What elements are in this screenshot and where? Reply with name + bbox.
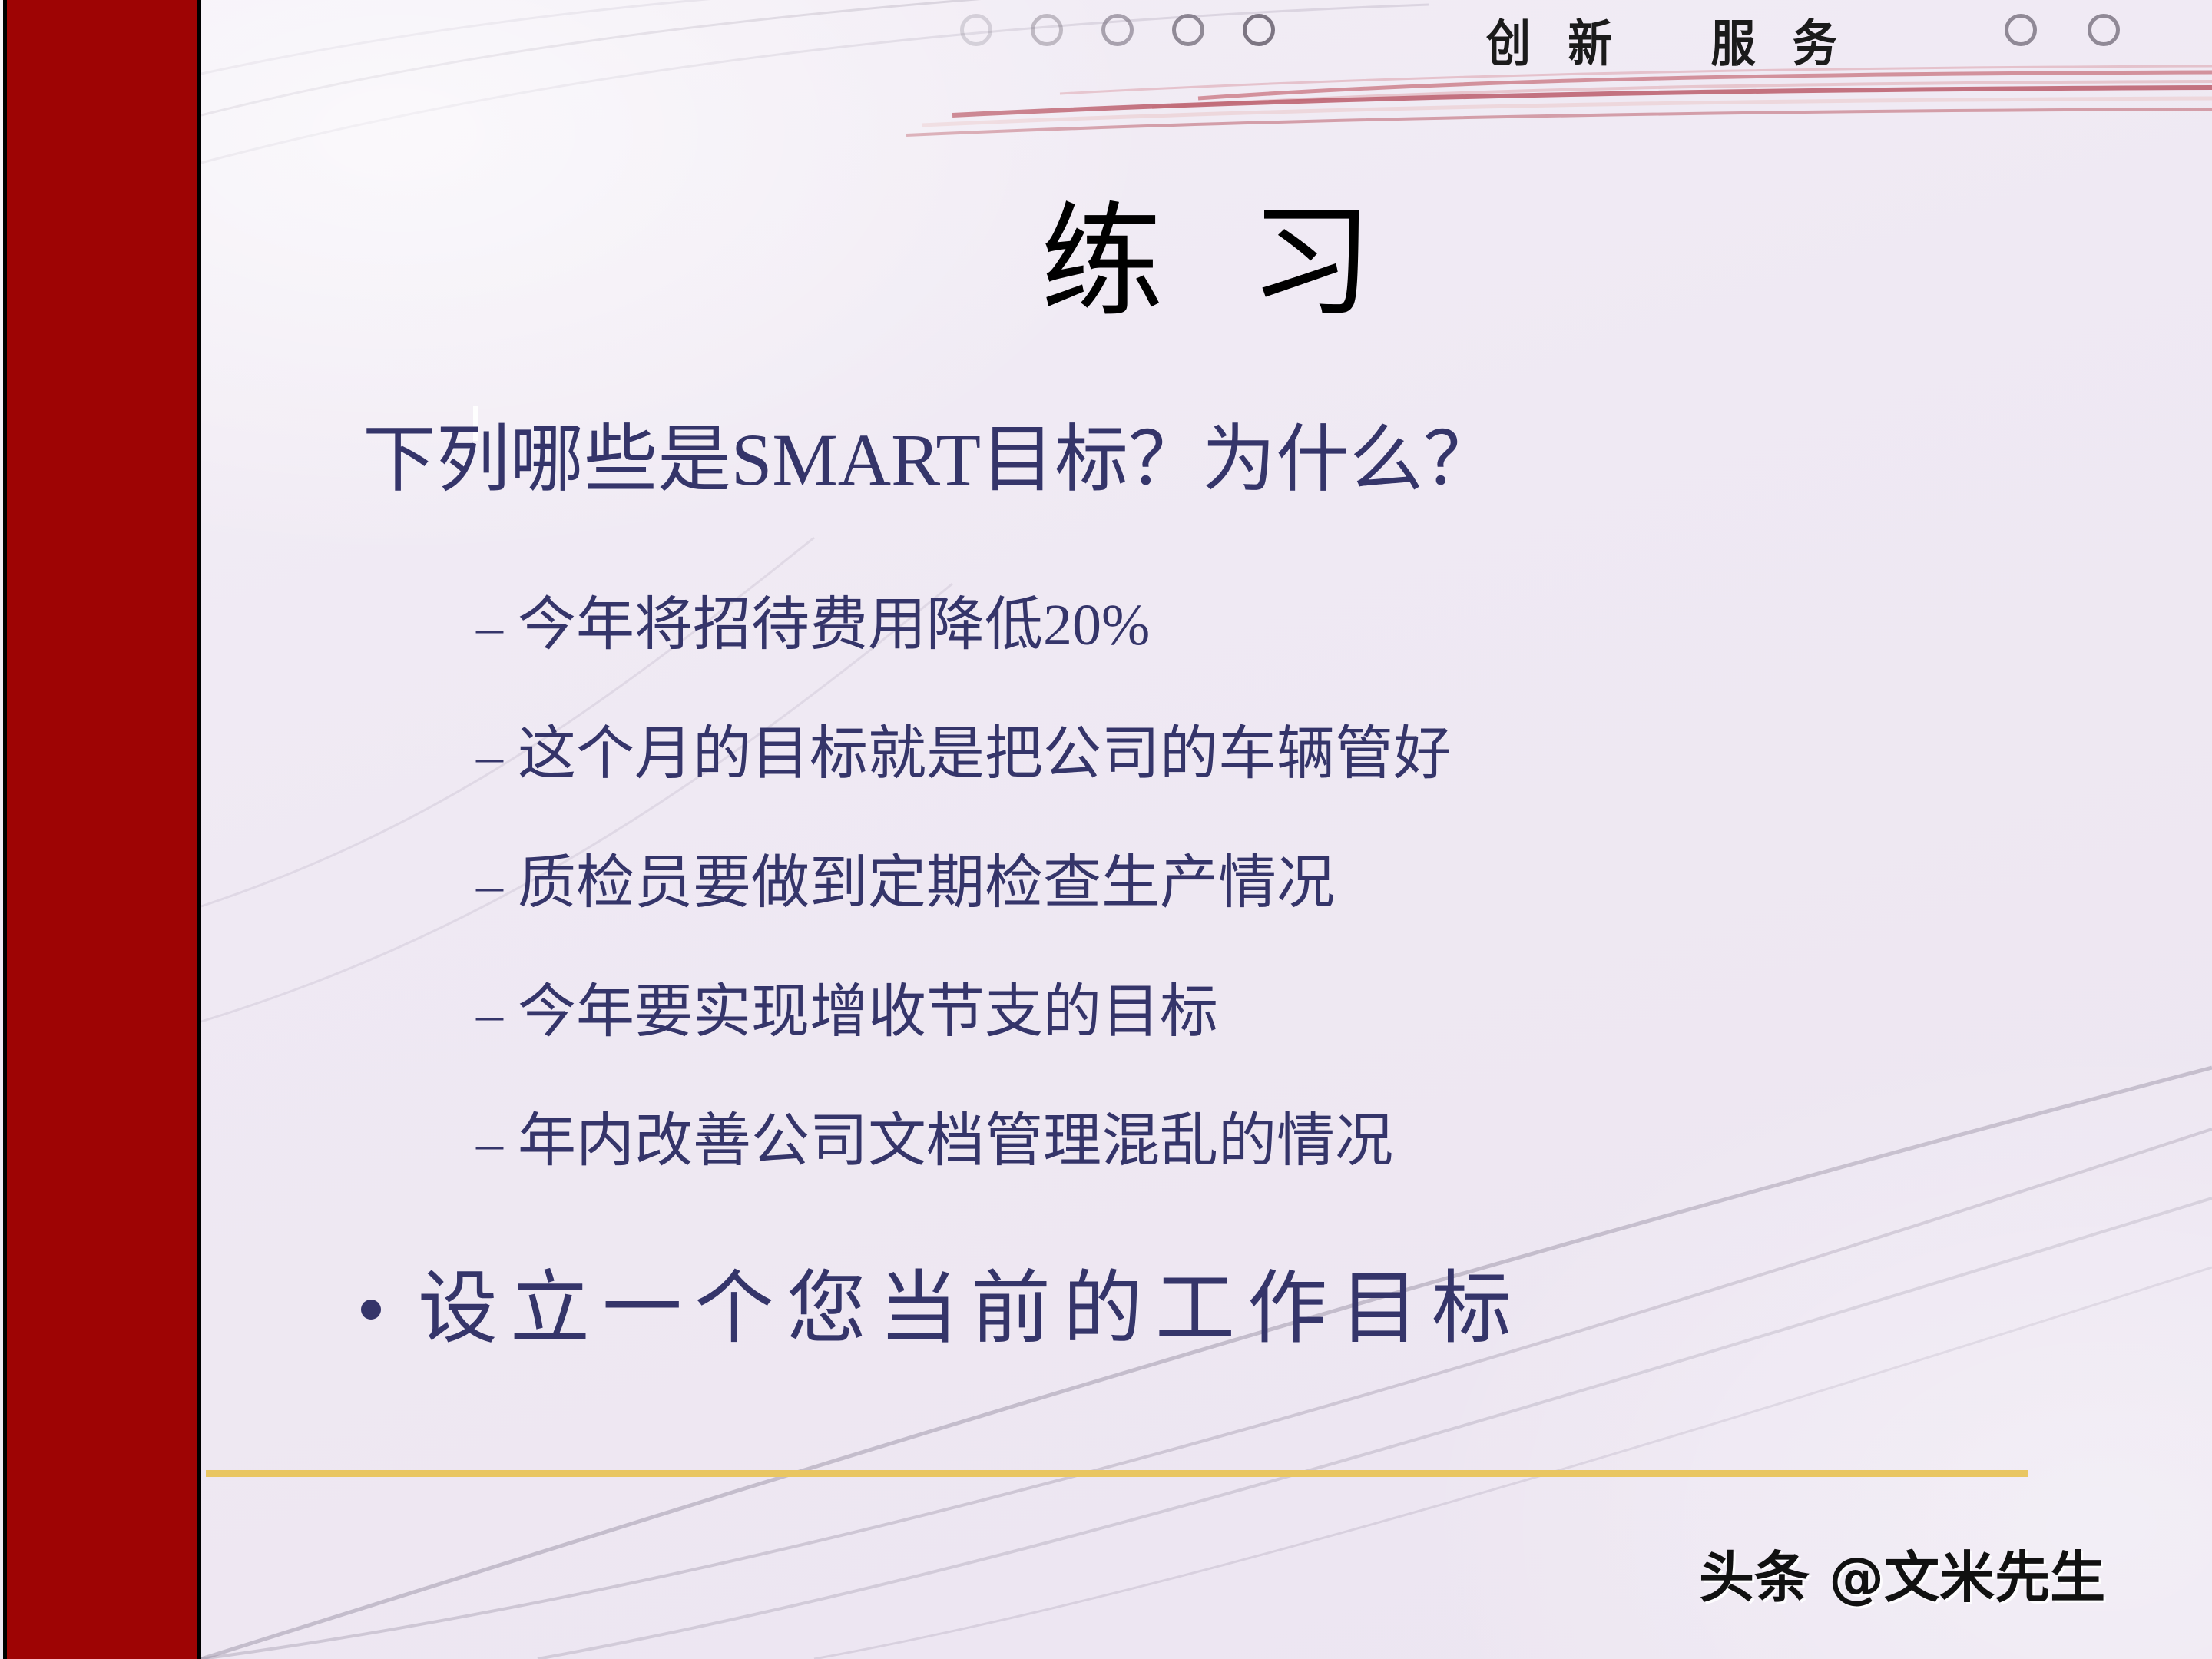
list-item-label: 质检员要做到定期检查生产情况 (518, 853, 1335, 915)
list-item-label: 今年要实现增收节支的目标 (518, 982, 1218, 1044)
final-list-item: 设立一个您当前的工作目标 (361, 1267, 1524, 1351)
header-motto-left: 创 新 (1486, 15, 1623, 73)
question-line: 下列哪些是SMART目标？为什么？ (363, 421, 1497, 499)
dash-marker: – (476, 986, 518, 1043)
list-item: – 今年要实现增收节支的目标 (476, 982, 2089, 1111)
circle-icon (1101, 14, 1134, 46)
watermark: 头条 @文米先生 (1699, 1532, 2105, 1613)
circle-icon (1031, 14, 1063, 46)
header-circle-group-right (2005, 14, 2120, 46)
circle-icon (1172, 14, 1204, 46)
bullet-icon (361, 1300, 381, 1320)
list-item: – 这个月的目标就是把公司的车辆管好 (476, 724, 2089, 853)
page-title: 练 习 (201, 201, 2212, 324)
circle-icon (2005, 14, 2037, 46)
list-item: – 今年将招待费用降低20% (476, 595, 2089, 724)
list-item-label: 年内改善公司文档管理混乱的情况 (518, 1111, 1393, 1173)
header-motto: 创 新 服 务 (1486, 3, 1848, 75)
final-list-item-label: 设立一个您当前的工作目标 (418, 1267, 1524, 1351)
dash-marker: – (476, 857, 518, 914)
header-motto-right: 服 务 (1711, 15, 1848, 73)
circle-icon (2088, 14, 2120, 46)
list-item-label: 今年将招待费用降低20% (518, 595, 1150, 657)
list-item-label: 这个月的目标就是把公司的车辆管好 (518, 724, 1452, 786)
sub-item-list: – 今年将招待费用降低20% – 这个月的目标就是把公司的车辆管好 – 质检员要… (476, 595, 2089, 1240)
left-red-band (3, 0, 201, 1659)
slide-canvas: 创 新 服 务 练 习 下列哪些是SMART目标？为什么？ – 今年将招待费用降… (0, 0, 2212, 1659)
circle-icon (960, 14, 992, 46)
dash-marker: – (476, 599, 518, 656)
dash-marker: – (476, 1115, 518, 1172)
dash-marker: – (476, 728, 518, 785)
circle-icon (1243, 14, 1275, 46)
list-item: – 质检员要做到定期检查生产情况 (476, 853, 2089, 982)
list-item: – 年内改善公司文档管理混乱的情况 (476, 1111, 2089, 1240)
gold-divider (206, 1470, 2028, 1477)
header-circle-group-left (960, 14, 1275, 46)
